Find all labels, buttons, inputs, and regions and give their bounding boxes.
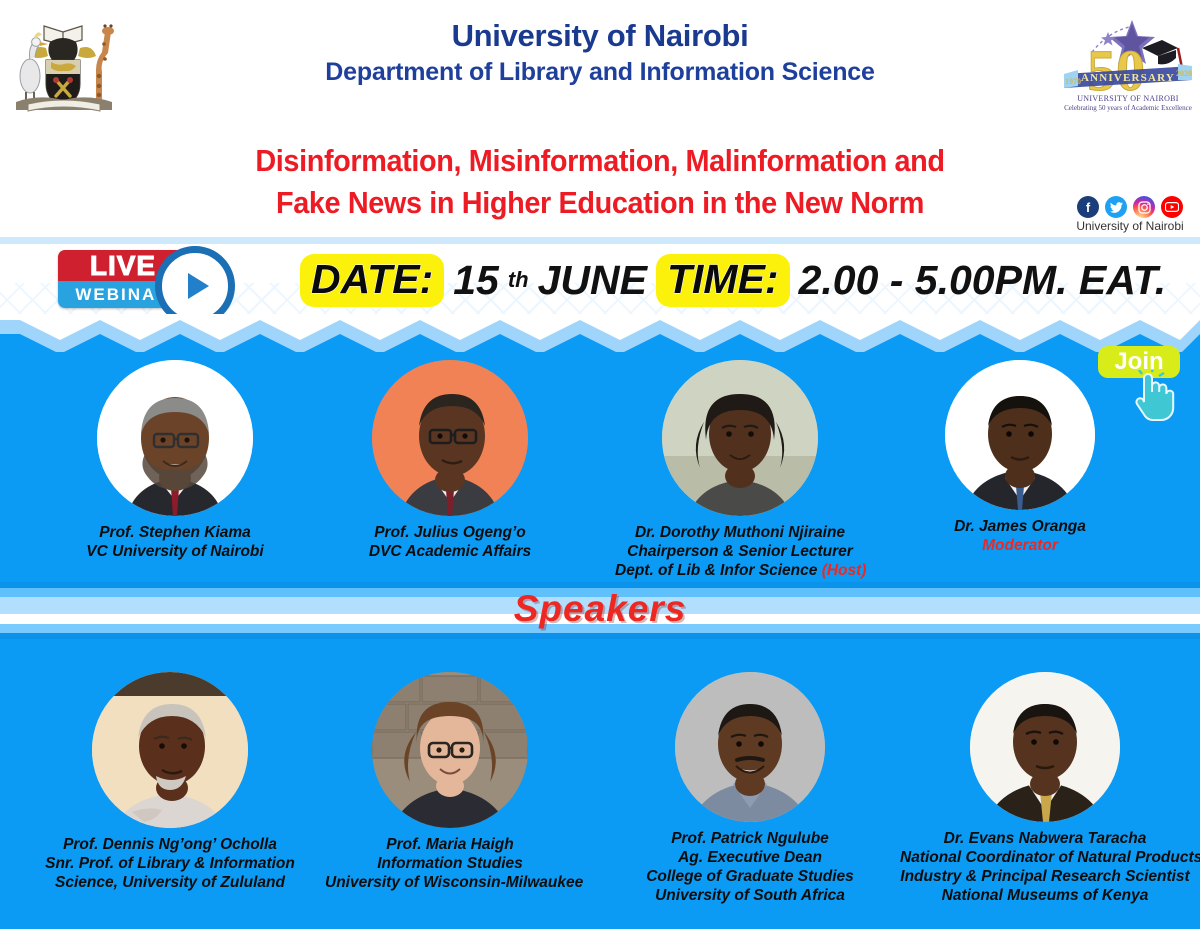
webinar-topic: Disinformation, Misinformation, Malinfor… (42, 140, 1158, 224)
svg-text:ANNIVERSARY: ANNIVERSARY (1081, 72, 1175, 84)
avatar (92, 672, 248, 828)
avatar (97, 360, 253, 516)
avatar (675, 672, 825, 822)
host-name: Prof. Stephen Kiama (55, 523, 295, 542)
play-triangle (188, 273, 209, 299)
host-card-0: Prof. Stephen Kiama VC University of Nai… (55, 360, 295, 561)
speaker-role-1: Snr. Prof. of Library & Information (45, 854, 295, 873)
host-caption: Dr. James Oranga Moderator (905, 517, 1135, 555)
avatar (945, 360, 1095, 510)
poster-header: University of Nairobi Department of Libr… (0, 0, 1200, 237)
speakers-heading: Speakers (0, 588, 1200, 630)
host-badge: (Host) (822, 562, 867, 579)
date-suffix: th (508, 267, 529, 293)
host-name: Dr. Dorothy Muthoni Njiraine (615, 523, 865, 542)
speaker-caption: Prof. Patrick Ngulube Ag. Executive Dean… (625, 829, 875, 905)
host-card-2: Dr. Dorothy Muthoni Njiraine Chairperson… (615, 360, 865, 580)
time-label: TIME: (667, 256, 779, 302)
youtube-icon[interactable] (1161, 196, 1183, 218)
host-caption: Prof. Stephen Kiama VC University of Nai… (55, 523, 295, 561)
avatar (970, 672, 1120, 822)
speaker-role-1: National Coordinator of Natural Products (900, 848, 1190, 867)
live-webinar-badge[interactable]: LIVE WEBINAR (58, 250, 268, 310)
host-dept: Dept. of Lib & Infor Science (615, 562, 822, 579)
host-name: Dr. James Oranga (905, 517, 1135, 536)
speaker-card-3: Dr. Evans Nabwera Taracha National Coord… (900, 672, 1190, 905)
social-handle-label: University of Nairobi (1065, 219, 1195, 233)
instagram-icon[interactable] (1133, 196, 1155, 218)
speaker-name: Dr. Evans Nabwera Taracha (900, 829, 1190, 848)
department-title: Department of Library and Information Sc… (0, 58, 1200, 87)
time-label-highlight: TIME: (656, 254, 790, 307)
date-label: DATE: (311, 256, 433, 302)
date-label-highlight: DATE: (300, 254, 444, 307)
speaker-name: Prof. Maria Haigh (325, 835, 575, 854)
social-links: f University of Nairobi (1065, 196, 1195, 233)
webinar-poster: University of Nairobi Department of Libr… (0, 0, 1200, 929)
avatar (662, 360, 818, 516)
speaker-role-2: College of Graduate Studies (625, 867, 875, 886)
svg-text:1970: 1970 (1065, 77, 1081, 86)
svg-text:Celebrating 50 years of Academ: Celebrating 50 years of Academic Excelle… (1064, 104, 1192, 112)
speaker-card-0: Prof. Dennis Ng’ong’ Ocholla Snr. Prof. … (45, 672, 295, 892)
topic-line-1: Disinformation, Misinformation, Malinfor… (42, 140, 1158, 182)
speaker-name: Prof. Patrick Ngulube (625, 829, 875, 848)
speaker-caption: Prof. Maria Haigh Information Studies Un… (325, 835, 575, 892)
host-caption: Prof. Julius Ogeng’o DVC Academic Affair… (330, 523, 570, 561)
speaker-role-2: Science, University of Zululand (45, 873, 295, 892)
svg-text:UNIVERSITY OF NAIROBI: UNIVERSITY OF NAIROBI (1077, 94, 1179, 103)
datebar-top-stripe (0, 237, 1200, 244)
speaker-caption: Dr. Evans Nabwera Taracha National Coord… (900, 829, 1190, 905)
date-value: 15 (453, 257, 499, 304)
topic-line-2: Fake News in Higher Education in the New… (42, 182, 1158, 224)
svg-text:2020: 2020 (1176, 69, 1192, 78)
speaker-caption: Prof. Dennis Ng’ong’ Ocholla Snr. Prof. … (45, 835, 295, 892)
host-role: Chairperson & Senior Lecturer (615, 542, 865, 561)
speaker-role-3: National Museums of Kenya (900, 886, 1190, 905)
host-card-1: Prof. Julius Ogeng’o DVC Academic Affair… (330, 360, 570, 561)
host-name: Prof. Julius Ogeng’o (330, 523, 570, 542)
host-dept-line: Dept. of Lib & Infor Science (Host) (615, 561, 865, 580)
host-badge: Moderator (905, 536, 1135, 555)
twitter-icon[interactable] (1105, 196, 1127, 218)
host-role: VC University of Nairobi (55, 542, 295, 561)
speaker-role-1: Ag. Executive Dean (625, 848, 875, 867)
anniversary-50-logo: 50 ANNIVERSARY 1970 2020 UNIVERSITY OF N… (1058, 6, 1198, 114)
speaker-role-3: University of South Africa (625, 886, 875, 905)
host-caption: Dr. Dorothy Muthoni Njiraine Chairperson… (615, 523, 865, 580)
date-month: JUNE (538, 257, 647, 304)
speaker-card-2: Prof. Patrick Ngulube Ag. Executive Dean… (625, 672, 875, 905)
avatar (372, 672, 528, 828)
speaker-role-1: Information Studies (325, 854, 575, 873)
facebook-icon[interactable]: f (1077, 196, 1099, 218)
university-title: University of Nairobi (0, 18, 1200, 54)
pointing-hand-icon (1128, 370, 1184, 435)
avatar (372, 360, 528, 516)
host-role: DVC Academic Affairs (330, 542, 570, 561)
live-label: LIVE (90, 250, 156, 282)
speaker-role-2: Industry & Principal Research Scientist (900, 867, 1190, 886)
speaker-card-1: Prof. Maria Haigh Information Studies Un… (325, 672, 575, 892)
host-card-3: Dr. James Oranga Moderator (905, 360, 1135, 555)
speaker-role-2: University of Wisconsin-Milwaukee (325, 873, 575, 892)
schedule-line: DATE: 15th JUNE TIME: 2.00 - 5.00PM. EAT… (300, 252, 1170, 308)
speaker-name: Prof. Dennis Ng’ong’ Ocholla (45, 835, 295, 854)
time-value: 2.00 - 5.00PM. EAT. (799, 257, 1167, 304)
